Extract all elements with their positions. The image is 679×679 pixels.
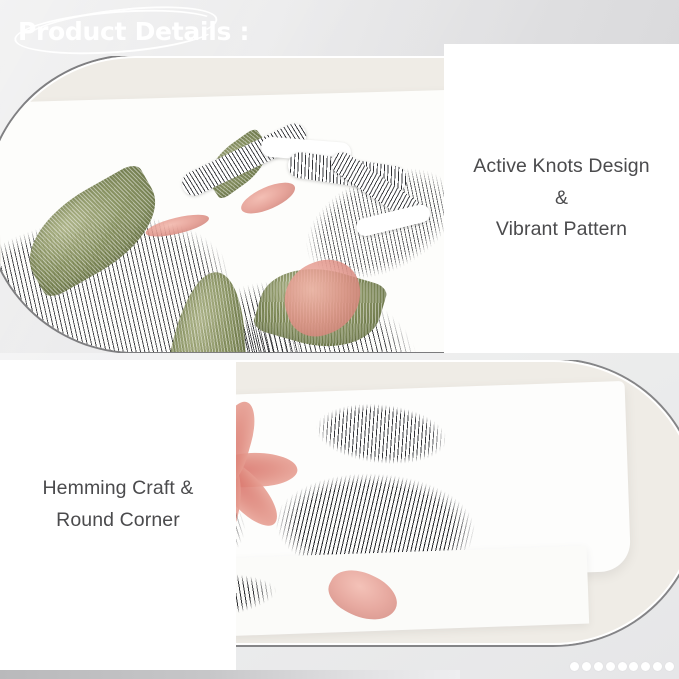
pagination-dots bbox=[570, 659, 674, 673]
pagination-dot bbox=[606, 662, 615, 671]
caption-panel-bottom-left: Hemming Craft &Round Corner bbox=[0, 360, 236, 650]
caption-top-line2: Vibrant Pattern bbox=[458, 214, 665, 246]
bottom-product-image bbox=[228, 360, 679, 650]
caption-top-text: Active Knots Design &Vibrant Pattern bbox=[444, 151, 679, 246]
top-image-pill-backdrop bbox=[0, 56, 446, 352]
pagination-dot bbox=[618, 662, 627, 671]
pagination-dot bbox=[665, 662, 674, 671]
bottom-white-filler bbox=[0, 648, 236, 670]
page-title: Product Details : bbox=[8, 8, 238, 56]
caption-bottom-line1: Hemming Craft & bbox=[28, 473, 207, 505]
pagination-dot bbox=[641, 662, 650, 671]
top-product-image bbox=[0, 56, 446, 353]
bottom-gray-bar bbox=[0, 670, 460, 679]
line-art-leaf-h bbox=[228, 557, 310, 641]
pagination-dot bbox=[653, 662, 662, 671]
bottom-image-pill-backdrop bbox=[228, 360, 679, 645]
bottom-fabric-hem-band bbox=[228, 546, 589, 645]
pagination-dot bbox=[594, 662, 603, 671]
caption-bottom-line2: Round Corner bbox=[28, 505, 207, 537]
product-details-graphic: Product Details : Active Knots Design &V… bbox=[0, 0, 679, 679]
top-fabric-body bbox=[0, 89, 446, 352]
knot-tie-detail bbox=[165, 114, 434, 280]
caption-top-line1: Active Knots Design & bbox=[458, 151, 665, 214]
caption-panel-top-right: Active Knots Design &Vibrant Pattern bbox=[444, 44, 679, 353]
page-title-text: Product Details : bbox=[18, 17, 249, 46]
pagination-dot bbox=[629, 662, 638, 671]
pagination-dot bbox=[582, 662, 591, 671]
coral-accent-bottom bbox=[322, 560, 404, 632]
caption-bottom-text: Hemming Craft &Round Corner bbox=[14, 473, 221, 536]
pagination-dot bbox=[570, 662, 579, 671]
